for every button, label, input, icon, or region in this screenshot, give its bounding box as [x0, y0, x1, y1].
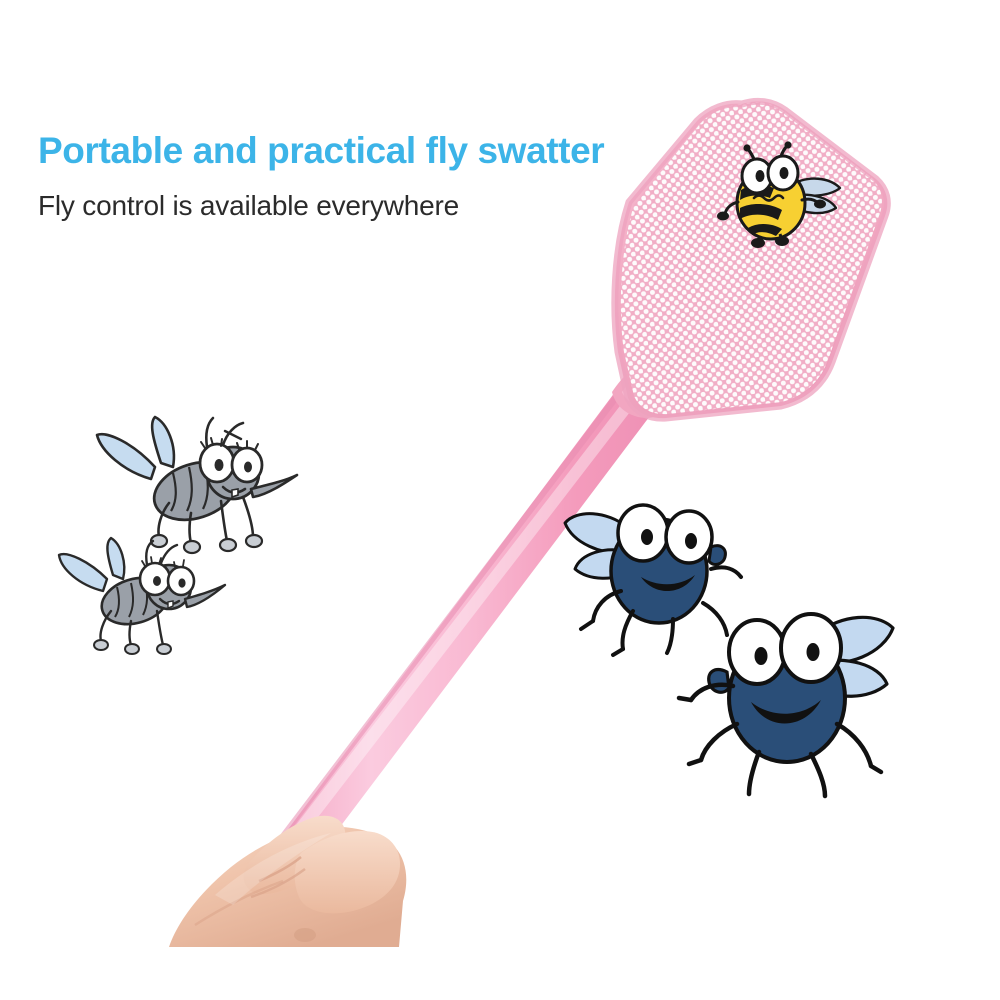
product-banner: Portable and practical fly swatter Fly c…: [0, 0, 1000, 1000]
cartoon-bee-icon: [716, 140, 846, 255]
cartoon-mosquito-icon: [55, 535, 230, 660]
swatter-head: [590, 80, 920, 440]
human-hand-holding-handle: [155, 735, 455, 1000]
cartoon-fly-icon: [665, 600, 905, 805]
